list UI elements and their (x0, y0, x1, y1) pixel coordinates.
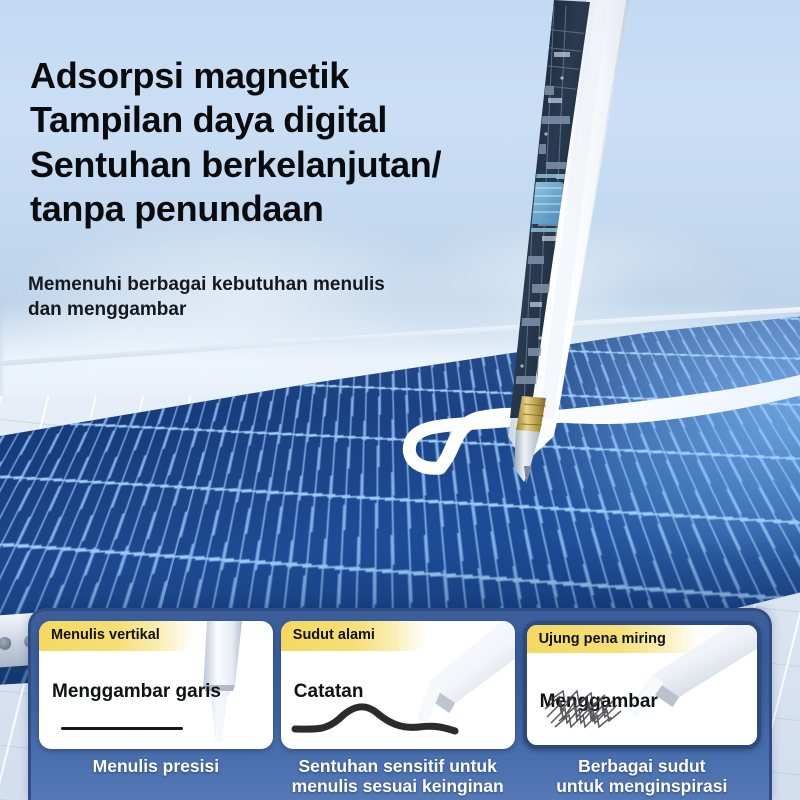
feature-caption-2-line-1: Sentuhan sensitif untuk (281, 757, 515, 777)
feature-caption-1-line-1: Menulis presisi (39, 757, 273, 777)
headline-line-3: Sentuhan berkelanjutan/ (30, 143, 590, 187)
feature-card-3[interactable]: Ujung pena miring Menggambar (523, 621, 761, 749)
feature-column-2: Sudut alami Catatan Sentuhan sensitif un… (281, 621, 515, 800)
feature-panel: Menulis vertikal Menggambar garis Menuli… (28, 608, 772, 800)
straight-line-icon (61, 727, 183, 730)
headline-line-4: tanpa penundaan (30, 187, 590, 231)
speaker-hole-icon (0, 637, 12, 651)
feature-caption-3: Berbagai sudut untuk menginspirasi (523, 757, 761, 797)
headline-line-2: Tampilan daya digital (30, 98, 590, 142)
feature-caption-3-line-1: Berbagai sudut (523, 757, 761, 777)
promo-banner: Adsorpsi magnetik Tampilan daya digital … (0, 0, 800, 800)
subheadline-line-1: Memenuhi berbagai kebutuhan menulis (28, 272, 498, 297)
feature-badge-2: Sudut alami (281, 621, 426, 651)
subheadline: Memenuhi berbagai kebutuhan menulis dan … (28, 272, 498, 323)
feature-caption-2-line-2: menulis sesuai keinginan (281, 777, 515, 797)
subheadline-line-2: dan menggambar (28, 297, 498, 322)
headline-line-1: Adsorpsi magnetik (30, 54, 590, 98)
feature-caption-2: Sentuhan sensitif untuk menulis sesuai k… (281, 757, 515, 797)
feature-caption-1: Menulis presisi (39, 757, 273, 777)
feature-column-3: Ujung pena miring Menggambar Berbagai su… (523, 621, 761, 800)
feature-badge-3: Ujung pena miring (527, 625, 700, 653)
headline: Adsorpsi magnetik Tampilan daya digital … (30, 54, 590, 231)
feature-card-2[interactable]: Sudut alami Catatan (281, 621, 515, 749)
feature-card-1[interactable]: Menulis vertikal Menggambar garis (39, 621, 273, 749)
pencil-shading-scribble-icon (541, 687, 671, 731)
feature-badge-1: Menulis vertikal (39, 621, 194, 651)
wavy-stroke-icon (291, 695, 461, 741)
feature-label-1: Menggambar garis (52, 681, 221, 702)
feature-column-1: Menulis vertikal Menggambar garis Menuli… (39, 621, 273, 800)
feature-caption-3-line-2: untuk menginspirasi (523, 777, 761, 797)
